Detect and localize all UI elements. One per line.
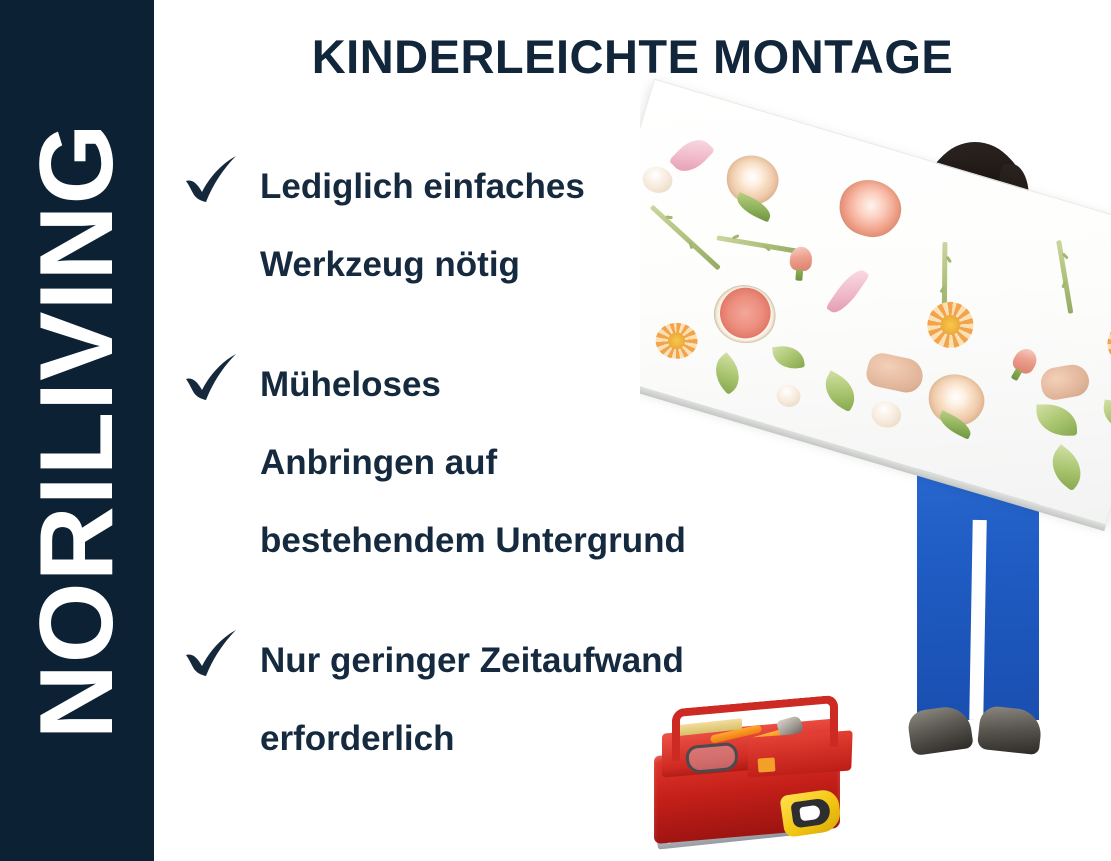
motif-fig <box>707 278 783 351</box>
motif-daisy <box>1102 316 1111 371</box>
motif-berry <box>868 398 904 431</box>
product-photo <box>640 60 1111 861</box>
motif-petal <box>669 132 716 179</box>
motif-leaf <box>817 370 862 412</box>
motif-leaf <box>772 343 805 371</box>
motif-leaf <box>1101 400 1111 433</box>
brand-rail: NORILIVING <box>0 0 154 861</box>
motif-daisy <box>922 296 979 353</box>
red-toolbox <box>654 696 884 861</box>
tool-tag <box>758 757 776 772</box>
motif-rose-pink <box>833 173 908 244</box>
motif-leaf <box>1042 444 1090 491</box>
motif-berry <box>640 163 676 196</box>
brand-wordmark: NORILIVING <box>25 122 129 739</box>
check-mark-icon <box>183 352 241 404</box>
promo-banner: NORILIVING KINDERLEICHTE MONTAGE Ledigli… <box>0 0 1111 861</box>
motif-petal <box>826 265 870 318</box>
motif-leaf <box>707 352 749 395</box>
motif-herb-sprig <box>716 235 802 254</box>
motif-herb-sprig <box>650 205 721 271</box>
motif-leaf <box>1036 404 1077 437</box>
motif-daisy <box>655 323 697 359</box>
motif-herb-sprig <box>1056 240 1073 314</box>
check-mark-icon <box>183 154 241 206</box>
check-mark-icon <box>183 628 241 680</box>
motif-bud <box>1010 345 1041 377</box>
motif-berry <box>774 382 803 410</box>
motif-bud <box>789 246 813 272</box>
